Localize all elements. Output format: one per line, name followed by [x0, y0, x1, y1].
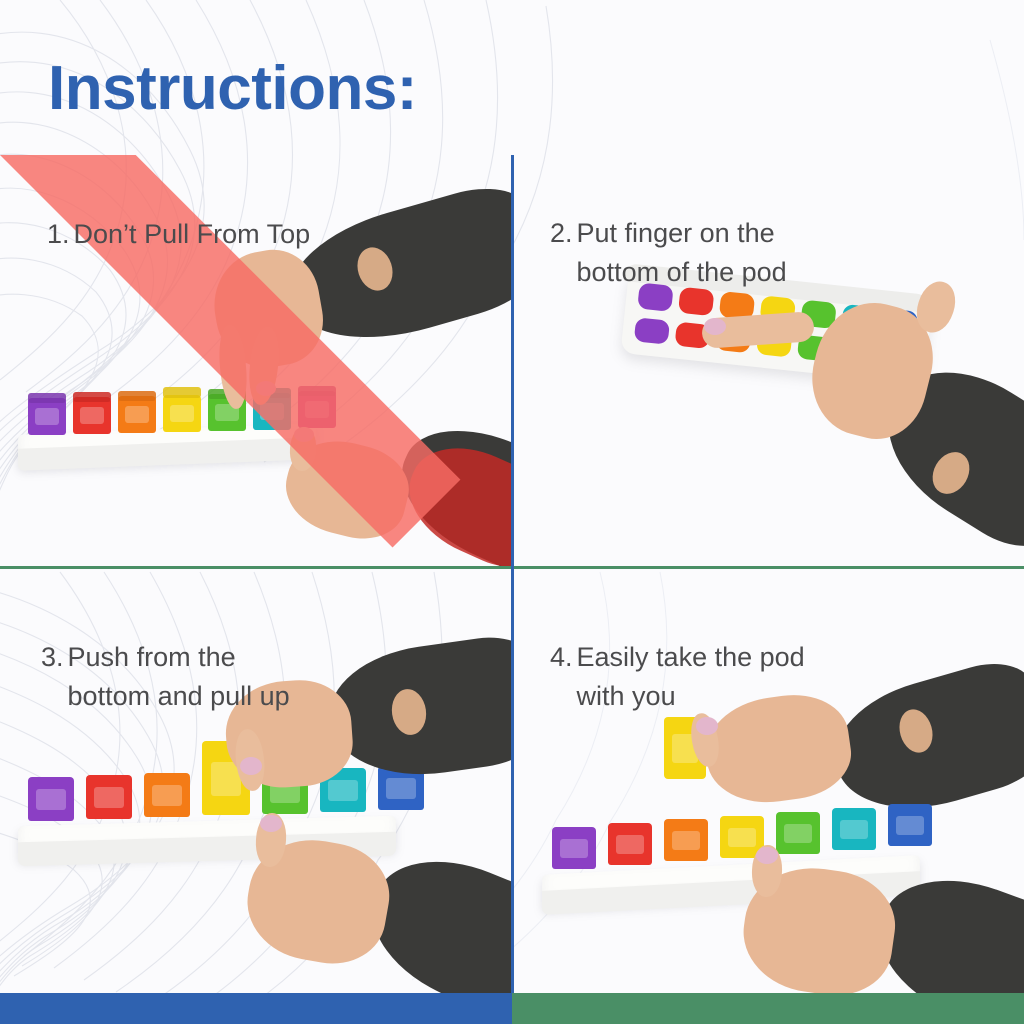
step-panel-3: 3.Push from the bottom and pull up — [0, 569, 511, 993]
nail-panel4-bottom — [756, 847, 778, 864]
pod-red-3 — [86, 775, 132, 819]
step-4-number: 4. — [550, 642, 573, 672]
footer-bar-left — [0, 993, 512, 1024]
pod-red-4 — [608, 823, 652, 865]
pod-orange — [118, 396, 156, 433]
nail-panel3-top — [240, 757, 262, 775]
step-4-text: Easily take the pod with you — [577, 638, 805, 716]
step-panel-1: 1.Don’t Pull From Top — [0, 155, 511, 566]
step-1-caption: 1.Don’t Pull From Top — [47, 176, 310, 254]
step-panel-2: 2.Put finger on the bottom of the pod — [514, 155, 1024, 566]
step-2-text: Put finger on the bottom of the pod — [577, 214, 787, 292]
pod-purple — [28, 398, 66, 435]
pod-blue-4 — [888, 804, 932, 846]
pod-green-4 — [776, 812, 820, 854]
footer-bar-right — [512, 993, 1024, 1024]
step-3-text: Push from the bottom and pull up — [68, 638, 290, 716]
pod-lid-orange — [118, 391, 156, 401]
step-4-caption: 4.Easily take the pod with you — [550, 599, 805, 716]
step-3-caption: 3.Push from the bottom and pull up — [41, 599, 290, 716]
pod-purple-3 — [28, 777, 74, 821]
nail-panel2 — [704, 318, 726, 335]
step-1-number: 1. — [47, 219, 70, 249]
pod-lid-purple — [28, 393, 66, 403]
step-2-caption: 2.Put finger on the bottom of the pod — [550, 175, 787, 292]
pod-orange-3 — [144, 773, 190, 817]
step-1-text: Don’t Pull From Top — [74, 215, 311, 254]
pod-purple-4 — [552, 827, 596, 869]
nail-panel4-top — [696, 717, 718, 735]
pod-yellow — [163, 395, 201, 432]
step-panel-4: 4.Easily take the pod with you — [514, 569, 1024, 993]
step-3-number: 3. — [41, 642, 64, 672]
pod-lid-red — [73, 392, 111, 402]
step-2-number: 2. — [550, 218, 573, 248]
pod-lid-yellow — [163, 387, 201, 398]
divider-vertical — [511, 155, 514, 993]
pod-orange-4 — [664, 819, 708, 861]
pod-underside-purple-b — [634, 317, 670, 344]
pod-teal-4 — [832, 808, 876, 850]
instructions-infographic: Instructions: 1.Don’t Pull From Top — [0, 0, 1024, 1024]
nail-panel3-bottom — [260, 815, 282, 832]
page-title: Instructions: — [48, 58, 417, 120]
pod-red — [73, 397, 111, 434]
